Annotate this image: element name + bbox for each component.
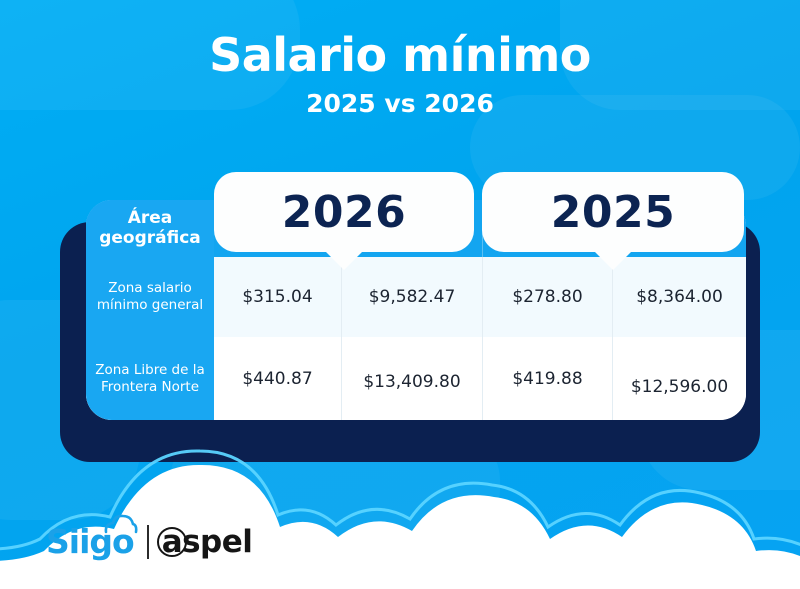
year-bubble-2025: 2025 [482, 172, 744, 252]
year-bubble-2026: 2026 [214, 172, 474, 252]
table-row: Zona salario mínimo general $315.04 $9,5… [86, 257, 746, 337]
logo-divider [147, 525, 149, 559]
bubble-tail-icon [594, 251, 632, 270]
row-label-line2: mínimo general [97, 297, 203, 314]
page-title: Salario mínimo [0, 30, 800, 81]
row-label-line1: Zona Libre de la [95, 362, 205, 379]
row-label-zona-general: Zona salario mínimo general [86, 257, 214, 337]
row-label-line1: Zona salario [108, 280, 192, 297]
brand-logo-lockup: Siigo aspel [46, 522, 252, 561]
cell-mensual-2026-general: $9,582.47 [342, 257, 483, 337]
cell-diario-2026-general: $315.04 [214, 257, 342, 337]
area-header-line1: Área [128, 209, 173, 229]
cell-mensual-2025-general: $8,364.00 [613, 257, 746, 337]
column-header-area: Área geográfica [86, 200, 214, 257]
year-label-2025: 2025 [551, 187, 675, 238]
cloud-icon [104, 513, 138, 535]
infographic-canvas: Salario mínimo 2025 vs 2026 Área geográf… [0, 0, 800, 589]
area-header-line2: geográfica [99, 229, 201, 249]
siigo-logo: Siigo [46, 522, 134, 561]
page-subtitle: 2025 vs 2026 [0, 89, 800, 118]
year-label-2026: 2026 [282, 187, 406, 238]
circle-icon [157, 527, 187, 557]
bubble-tail-icon [325, 251, 363, 270]
aspel-logo: aspel [162, 524, 253, 560]
title-block: Salario mínimo 2025 vs 2026 [0, 30, 800, 118]
